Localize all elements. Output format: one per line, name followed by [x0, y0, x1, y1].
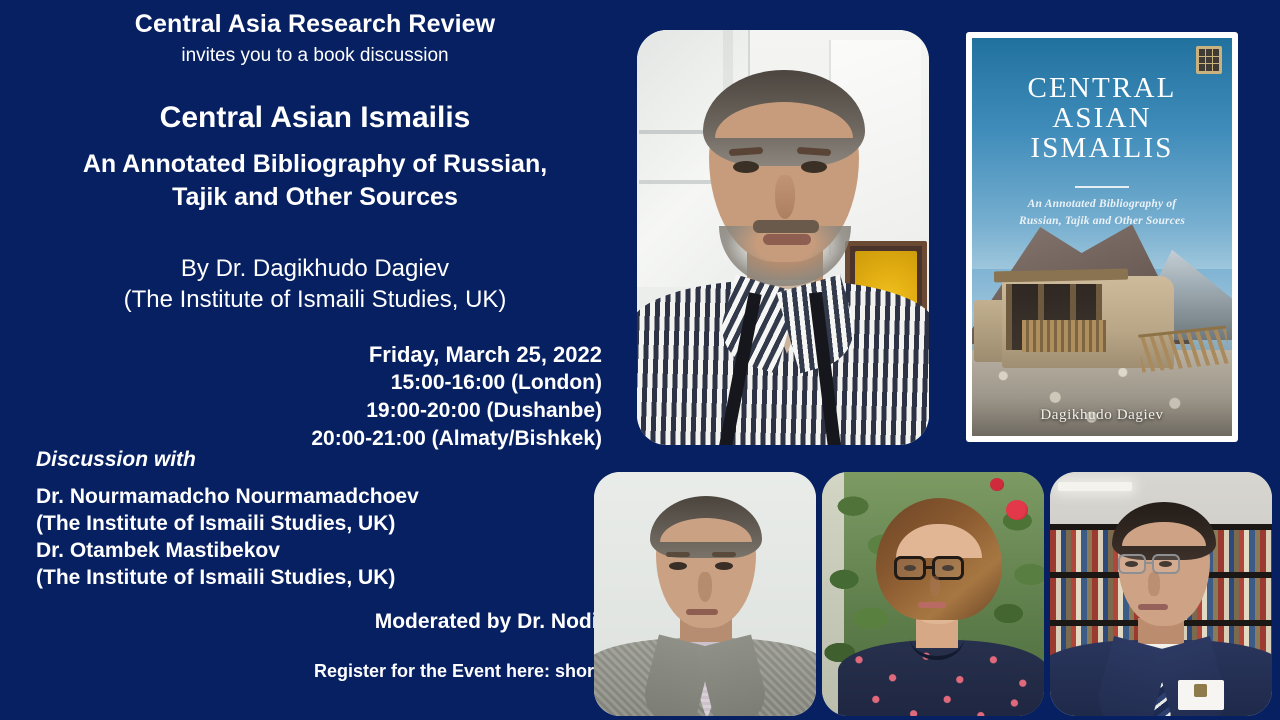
discussion-participants: Dr. Nourmamadcho Nourmamadchoev (The Ins… — [36, 483, 596, 591]
author-name: By Dr. Dagikhudo Dagiev — [0, 254, 630, 285]
nose — [775, 175, 795, 219]
cover-title-line-3: ISMAILIS — [972, 134, 1232, 164]
book-title: Central Asian Ismailis — [0, 101, 630, 135]
speaker-portrait-photo — [637, 30, 929, 445]
eyebrow-right — [712, 552, 736, 557]
nose — [1148, 572, 1160, 596]
book-subtitle-line-1: An Annotated Bibliography of Russian, — [20, 148, 610, 181]
participant-1-affiliation: (The Institute of Ismaili Studies, UK) — [36, 510, 596, 537]
cover-porch-post-1 — [1006, 284, 1012, 350]
eyeglasses-bridge — [1146, 562, 1153, 564]
nose — [698, 572, 712, 602]
moustache — [753, 220, 819, 233]
author-affiliation: (The Institute of Ismaili Studies, UK) — [0, 285, 630, 316]
author-block: By Dr. Dagikhudo Dagiev (The Institute o… — [0, 254, 630, 315]
mouth — [686, 609, 718, 615]
event-time-london: 15:00-16:00 (London) — [122, 369, 602, 397]
mouth — [918, 602, 946, 608]
participant-3-photo — [1050, 472, 1272, 716]
cover-subtitle: An Annotated Bibliography of Russian, Ta… — [982, 196, 1222, 231]
background-rail-2 — [639, 180, 717, 184]
mouth — [763, 234, 811, 245]
mouth — [1138, 604, 1168, 610]
cover-divider — [1075, 186, 1129, 188]
eye-left — [669, 562, 687, 570]
book-subtitle-line-2: Tajik and Other Sources — [20, 181, 610, 214]
cover-wooden-fence — [1022, 320, 1106, 352]
ceiling-light — [1058, 482, 1132, 491]
cover-subtitle-line-1: An Annotated Bibliography of — [982, 196, 1222, 213]
eyeglasses-left-lens — [1118, 554, 1146, 574]
schedule-block: Friday, March 25, 2022 15:00-16:00 (Lond… — [122, 340, 602, 453]
invitation-subtitle: invites you to a book discussion — [0, 45, 630, 67]
eyeglasses-right-lens — [1152, 554, 1180, 574]
eyebrow-left — [666, 552, 690, 557]
nose — [930, 576, 940, 596]
participant-2-name: Dr. Otambek Mastibekov — [36, 537, 596, 564]
eye-right — [715, 562, 733, 570]
book-cover-image: CENTRAL ASIAN ISMAILIS An Annotated Bibl… — [966, 32, 1238, 442]
organization-title: Central Asia Research Review — [0, 10, 630, 39]
rose-bud — [990, 478, 1004, 491]
eyeglasses-left-lens — [894, 556, 926, 580]
book-cover-inner: CENTRAL ASIAN ISMAILIS An Annotated Bibl… — [972, 38, 1232, 436]
participant-2-photo — [822, 472, 1044, 716]
eyeglasses-bridge — [926, 566, 934, 569]
event-date: Friday, March 25, 2022 — [122, 340, 602, 369]
cover-subtitle-line-2: Russian, Tajik and Other Sources — [982, 213, 1222, 230]
participant-2-affiliation: (The Institute of Ismaili Studies, UK) — [36, 564, 596, 591]
cover-title: CENTRAL ASIAN ISMAILIS — [972, 74, 1232, 164]
event-poster: Central Asia Research Review invites you… — [0, 0, 1280, 720]
discussion-label: Discussion with — [36, 448, 196, 472]
cover-title-line-2: ASIAN — [972, 104, 1232, 134]
publisher-logo-icon — [1196, 46, 1222, 74]
rose-flower — [1006, 500, 1028, 520]
eye-left — [733, 161, 759, 173]
cover-author: Dagikhudo Dagiev — [972, 407, 1232, 424]
eye-right — [801, 161, 827, 173]
participant-1-name: Dr. Nourmamadcho Nourmamadchoev — [36, 483, 596, 510]
book-subtitle: An Annotated Bibliography of Russian, Ta… — [20, 148, 610, 213]
name-badge — [1178, 680, 1224, 710]
participant-1-photo — [594, 472, 816, 716]
cover-title-line-1: CENTRAL — [972, 74, 1232, 104]
event-time-dushanbe: 19:00-20:00 (Dushanbe) — [122, 397, 602, 425]
